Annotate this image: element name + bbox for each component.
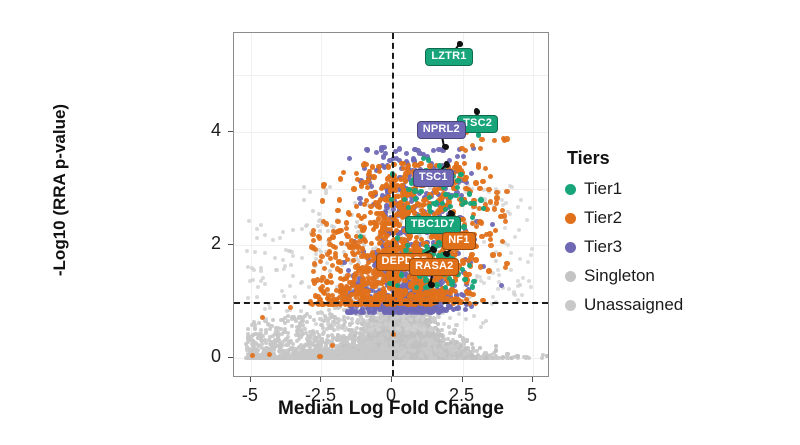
scatter-point	[462, 341, 466, 345]
scatter-point	[436, 339, 440, 343]
scatter-point	[545, 354, 549, 358]
plot-panel	[233, 32, 549, 377]
y-axis-title: -Log10 (RRA p-value)	[50, 40, 70, 340]
scatter-point	[515, 354, 519, 358]
scatter-point	[447, 325, 451, 329]
y-axis-tick-label: 4	[171, 120, 221, 141]
scatter-point	[524, 355, 528, 359]
gridline-horizontal	[234, 75, 548, 76]
scatter-point	[470, 342, 474, 346]
y-axis-tick-label: 2	[171, 233, 221, 254]
scatter-point	[436, 322, 440, 326]
scatter-point	[484, 356, 488, 360]
scatter-point	[452, 331, 456, 335]
gridline-horizontal	[234, 132, 548, 133]
scatter-point	[494, 349, 498, 353]
scatter-point	[466, 346, 470, 350]
scatter-point	[505, 356, 509, 360]
scatter-point	[501, 355, 505, 359]
y-axis-tick-label: 0	[171, 346, 221, 367]
volcano-plot-figure: -Log10 (RRA p-value) 024 LZTR1TSC2NPRL2T…	[0, 0, 800, 445]
gridline-vertical	[533, 33, 534, 376]
